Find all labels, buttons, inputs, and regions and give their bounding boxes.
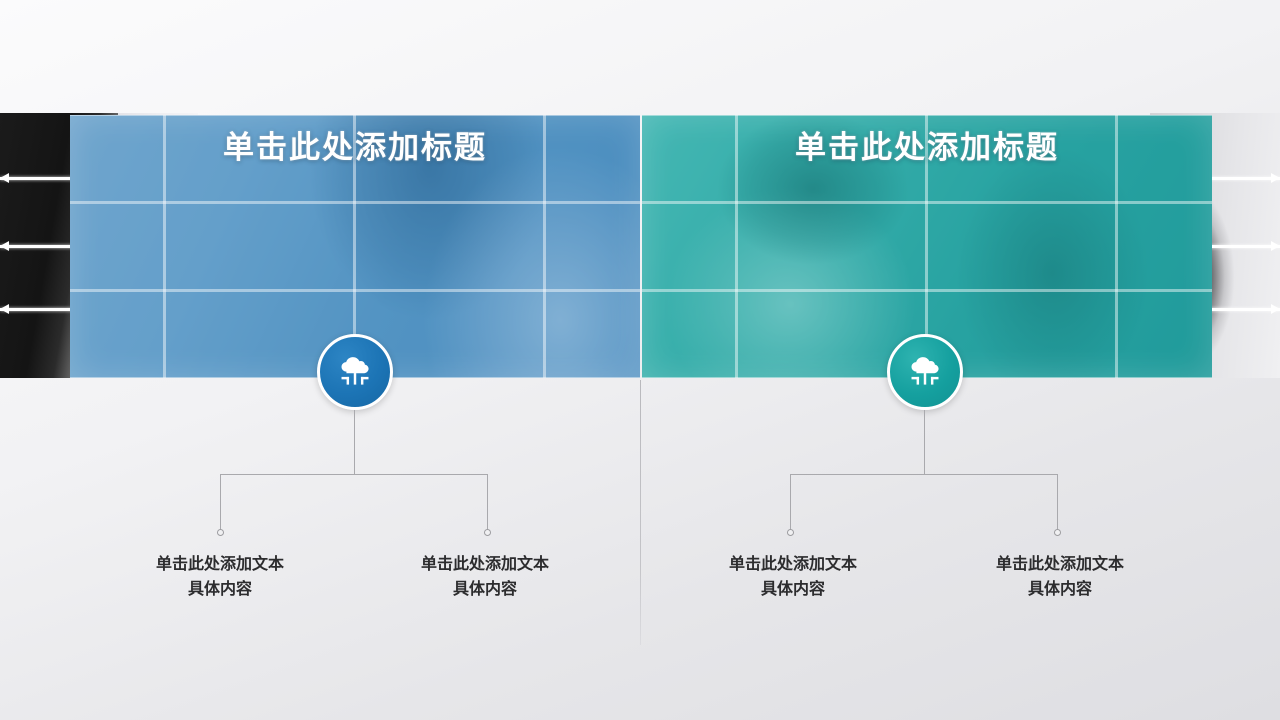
connector-drop — [487, 474, 488, 532]
cloud-network-icon — [334, 351, 376, 393]
slide-canvas: 单击此处添加标题 单击此处添加标题 — [0, 0, 1280, 720]
arrow-tip-icon — [0, 304, 9, 314]
cloud-network-icon — [904, 351, 946, 393]
caption-block-1[interactable]: 单击此处添加文本 具体内容 — [100, 552, 340, 602]
connector-bar — [790, 474, 1058, 475]
caption-line-2: 具体内容 — [673, 577, 913, 602]
caption-line-1: 单击此处添加文本 — [673, 552, 913, 577]
caption-line-1: 单击此处添加文本 — [100, 552, 340, 577]
connector-drop — [220, 474, 221, 532]
connector-drop — [790, 474, 791, 532]
caption-line-1: 单击此处添加文本 — [940, 552, 1180, 577]
arrow-tip-icon — [1271, 241, 1280, 251]
caption-line-2: 具体内容 — [940, 577, 1180, 602]
panel-title-right: 单击此处添加标题 — [642, 122, 1212, 167]
center-divider — [640, 380, 641, 645]
connector-endpoint-dot — [787, 529, 794, 536]
badge-right[interactable] — [887, 334, 963, 410]
arrow-tip-icon — [0, 173, 9, 183]
arrow-tip-icon — [1271, 304, 1280, 314]
connector-endpoint-dot — [217, 529, 224, 536]
caption-block-4[interactable]: 单击此处添加文本 具体内容 — [940, 552, 1180, 602]
connector-drop — [1057, 474, 1058, 532]
caption-line-2: 具体内容 — [100, 577, 340, 602]
caption-block-2[interactable]: 单击此处添加文本 具体内容 — [365, 552, 605, 602]
connector-stem — [924, 410, 925, 475]
connector-endpoint-dot — [484, 529, 491, 536]
caption-block-3[interactable]: 单击此处添加文本 具体内容 — [673, 552, 913, 602]
connector-stem — [354, 410, 355, 475]
arrow-tip-icon — [1271, 173, 1280, 183]
panel-title-left: 单击此处添加标题 — [70, 122, 640, 167]
caption-line-2: 具体内容 — [365, 577, 605, 602]
connector-bar — [220, 474, 488, 475]
arrow-tip-icon — [0, 241, 9, 251]
caption-line-1: 单击此处添加文本 — [365, 552, 605, 577]
badge-left[interactable] — [317, 334, 393, 410]
connector-endpoint-dot — [1054, 529, 1061, 536]
